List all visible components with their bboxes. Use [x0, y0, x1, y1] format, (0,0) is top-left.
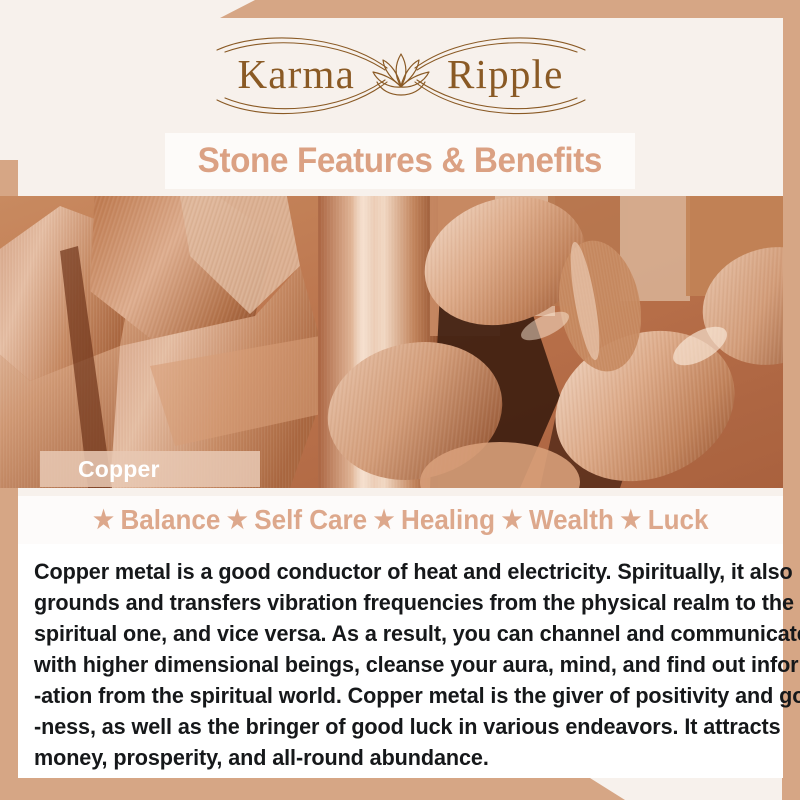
- frame-bottom-border: [0, 778, 800, 800]
- page-title: Stone Features & Benefits: [198, 141, 602, 181]
- description-line: money, prosperity, and all-round abundan…: [34, 742, 746, 773]
- frame-right-border: [782, 0, 800, 800]
- star-icon: ★: [93, 508, 114, 533]
- description-line: with higher dimensional beings, cleanse …: [34, 649, 746, 680]
- benefit-item-luck: Luck: [648, 504, 709, 536]
- benefit-item-wealth: Wealth: [529, 504, 614, 536]
- star-icon: ★: [227, 508, 248, 533]
- brand-logo-inner: Karma Ripple: [181, 26, 621, 122]
- description-card: Copper metal is a good conductor of heat…: [18, 544, 783, 778]
- description-line: spiritual one, and vice versa. As a resu…: [34, 618, 746, 649]
- brand-logo: Karma Ripple: [18, 24, 783, 124]
- infographic-card: Karma Ripple Stone Features & Benefits: [0, 0, 800, 800]
- star-icon: ★: [621, 508, 642, 533]
- frame-top-border: [0, 0, 800, 18]
- copper-bars-photo: [0, 196, 783, 488]
- brand-wordmark: Karma Ripple: [181, 54, 621, 95]
- stone-name-label: Copper: [78, 456, 160, 483]
- benefits-strip: ★ Balance ★ Self Care ★ Healing ★ Wealth…: [18, 496, 783, 544]
- benefit-item-self-care: Self Care: [254, 504, 367, 536]
- brand-word-left: Karma: [237, 54, 355, 95]
- star-icon: ★: [502, 508, 523, 533]
- hero-caption-band: Copper: [40, 451, 260, 487]
- section-title-band: Stone Features & Benefits: [165, 133, 635, 189]
- benefit-item-healing: Healing: [401, 504, 495, 536]
- description-line: -ation from the spiritual world. Copper …: [34, 680, 746, 711]
- description-line: Copper metal is a good conductor of heat…: [34, 556, 746, 587]
- star-icon: ★: [374, 508, 395, 533]
- description-text: Copper metal is a good conductor of heat…: [34, 556, 746, 773]
- benefits-list: ★ Balance ★ Self Care ★ Healing ★ Wealth…: [90, 504, 712, 536]
- benefit-item-balance: Balance: [121, 504, 221, 536]
- brand-word-right: Ripple: [447, 54, 564, 95]
- hero-photo: Copper: [0, 196, 783, 488]
- description-line: grounds and transfers vibration frequenc…: [34, 587, 746, 618]
- description-line: -ness, as well as the bringer of good lu…: [34, 711, 746, 742]
